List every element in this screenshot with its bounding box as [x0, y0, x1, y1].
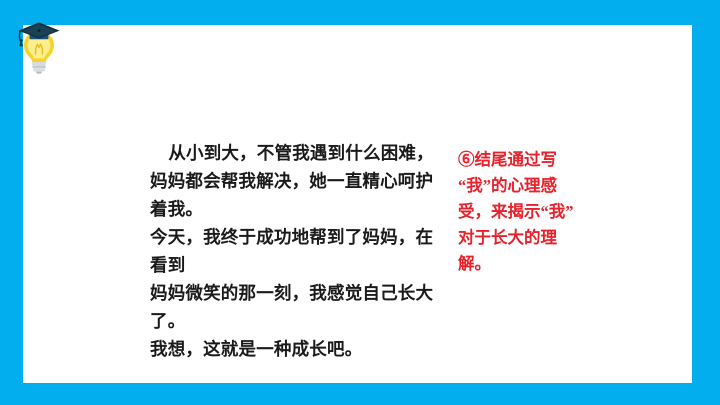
slide-canvas: 从小到大，不管我遇到什么困难， 妈妈都会帮我解决，她一直精心呵护着我。 今天，我… [0, 0, 720, 405]
teacher-annotation: ⑥结尾通过写 “我”的心理感 受，来揭示“我” 对于长大的理解。 [458, 147, 586, 277]
essay-body-paragraph: 从小到大，不管我遇到什么困难， 妈妈都会帮我解决，她一直精心呵护着我。 今天，我… [150, 139, 450, 363]
graduation-cap-lightbulb-icon [16, 20, 62, 74]
